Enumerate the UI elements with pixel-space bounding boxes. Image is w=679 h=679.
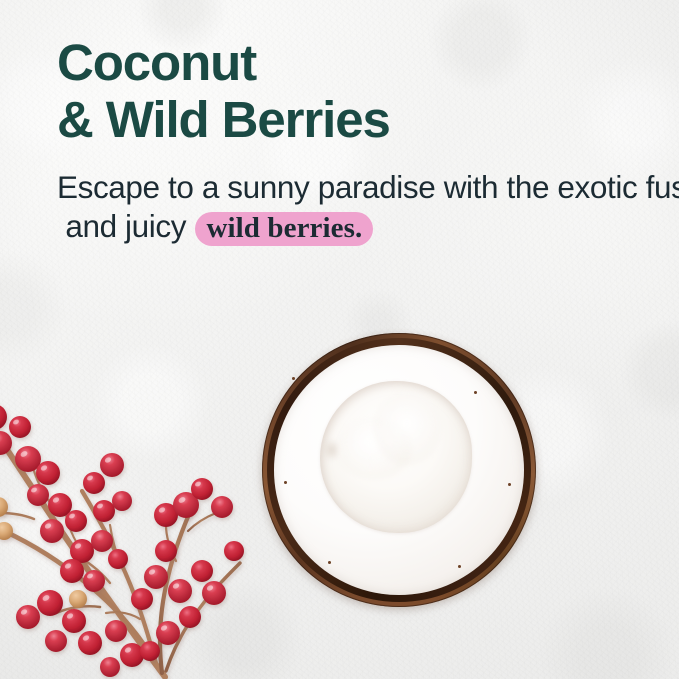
subcopy-segment-1: Escape to a sunny paradise with the exot… — [57, 169, 679, 205]
coconut-husk-speck — [508, 483, 511, 486]
highlight-wild-berries: wild berries. — [195, 212, 373, 246]
coconut-husk-speck — [328, 561, 331, 564]
coconut-cavity-notch — [322, 439, 338, 461]
coconut-husk-speck — [474, 391, 477, 394]
text-block: Coconut & Wild Berries Escape to a sunny… — [57, 34, 577, 246]
poster-canvas: Coconut & Wild Berries Escape to a sunny… — [0, 0, 679, 679]
halved-coconut-image — [262, 333, 536, 607]
subcopy-paragraph: Escape to a sunny paradise with the exot… — [57, 168, 577, 246]
page-title: Coconut & Wild Berries — [57, 34, 577, 148]
wild-berry-branch-image — [0, 355, 260, 679]
coconut-cavity-lobe-right — [374, 393, 440, 465]
subcopy-segment-2: and juicy — [57, 208, 194, 244]
coconut-husk-speck — [458, 565, 461, 568]
coconut-husk-speck — [292, 377, 295, 380]
coconut-husk-speck — [284, 481, 287, 484]
